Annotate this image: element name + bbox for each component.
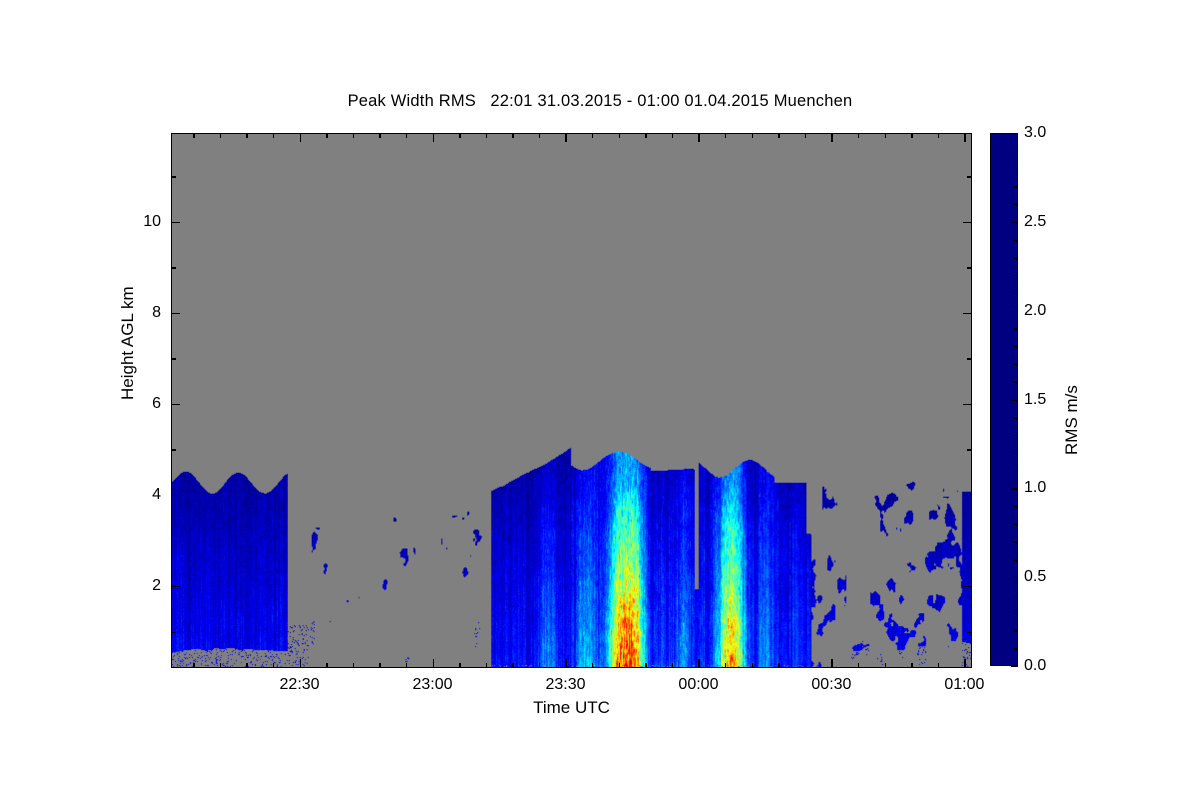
x-minor-tick-top <box>672 133 673 138</box>
x-minor-tick-top <box>938 133 939 138</box>
x-minor-tick-top <box>778 133 779 138</box>
x-minor-tick-top <box>752 133 753 138</box>
y-major-tick-right <box>963 495 972 496</box>
x-minor-tick <box>486 663 487 668</box>
colorbar-minor-tick <box>1014 364 1018 365</box>
figure-canvas: Peak Width RMS 22:01 31.03.2015 - 01:00 … <box>0 0 1200 800</box>
y-major-tick-right <box>963 586 972 587</box>
y-tick-label: 10 <box>121 213 161 231</box>
y-major-tick <box>171 586 180 587</box>
colorbar-title: RMS m/s <box>1062 385 1082 455</box>
x-major-tick-top <box>698 133 699 142</box>
x-tick-label: 23:00 <box>412 676 452 694</box>
colorbar-minor-tick <box>1014 257 1018 258</box>
colorbar-minor-tick <box>1014 204 1018 205</box>
x-major-tick-top <box>565 133 566 142</box>
x-tick-label: 01:00 <box>944 676 984 694</box>
x-minor-tick-top <box>911 133 912 138</box>
colorbar-minor-tick <box>1014 595 1018 596</box>
x-minor-tick <box>645 663 646 668</box>
colorbar-major-tick <box>1011 577 1018 578</box>
x-minor-tick <box>911 663 912 668</box>
y-major-tick-right <box>963 313 972 314</box>
x-minor-tick <box>512 663 513 668</box>
y-major-tick <box>171 313 180 314</box>
x-minor-tick <box>858 663 859 668</box>
x-minor-tick <box>805 663 806 668</box>
x-minor-tick-top <box>539 133 540 138</box>
y-tick-label: 4 <box>121 486 161 504</box>
colorbar-minor-tick <box>1014 293 1018 294</box>
colorbar-minor-tick <box>1014 648 1018 649</box>
x-minor-tick <box>246 663 247 668</box>
y-minor-tick <box>171 632 176 633</box>
colorbar-minor-tick <box>1014 524 1018 525</box>
colorbar-tick-label: 3.0 <box>1024 124 1046 142</box>
x-minor-tick <box>619 663 620 668</box>
x-major-tick-top <box>300 133 301 142</box>
colorbar-tick-label: 0.5 <box>1024 568 1046 586</box>
colorbar-minor-tick <box>1014 169 1018 170</box>
x-minor-tick-top <box>592 133 593 138</box>
x-minor-tick-top <box>486 133 487 138</box>
x-minor-tick <box>778 663 779 668</box>
colorbar-major-tick <box>1011 133 1018 134</box>
x-minor-tick-top <box>885 133 886 138</box>
x-minor-tick-top <box>858 133 859 138</box>
x-minor-tick <box>379 663 380 668</box>
y-minor-tick <box>171 267 176 268</box>
x-minor-tick-top <box>353 133 354 138</box>
y-minor-tick-right <box>967 541 972 542</box>
x-minor-tick <box>273 663 274 668</box>
x-minor-tick <box>459 663 460 668</box>
y-major-tick-right <box>963 404 972 405</box>
x-minor-tick <box>406 663 407 668</box>
y-minor-tick-right <box>967 358 972 359</box>
x-minor-tick-top <box>273 133 274 138</box>
x-minor-tick-top <box>805 133 806 138</box>
colorbar-minor-tick <box>1014 240 1018 241</box>
x-axis-title: Time UTC <box>171 698 972 718</box>
x-minor-tick-top <box>406 133 407 138</box>
colorbar-minor-tick <box>1014 471 1018 472</box>
colorbar-minor-tick <box>1014 346 1018 347</box>
x-major-tick <box>565 659 566 668</box>
colorbar-tick-label: 2.0 <box>1024 302 1046 320</box>
x-minor-tick <box>353 663 354 668</box>
x-major-tick <box>831 659 832 668</box>
x-minor-tick-top <box>379 133 380 138</box>
y-minor-tick-right <box>967 632 972 633</box>
colorbar-minor-tick <box>1014 453 1018 454</box>
y-major-tick-right <box>963 222 972 223</box>
x-major-tick <box>698 659 699 668</box>
colorbar-tick-label: 0.0 <box>1024 657 1046 675</box>
colorbar-minor-tick <box>1014 435 1018 436</box>
colorbar-minor-tick <box>1014 559 1018 560</box>
x-minor-tick-top <box>220 133 221 138</box>
x-minor-tick <box>752 663 753 668</box>
x-minor-tick <box>326 663 327 668</box>
x-major-tick <box>433 659 434 668</box>
y-axis-title: Height AGL km <box>118 286 138 400</box>
colorbar-major-tick <box>1011 488 1018 489</box>
x-minor-tick <box>193 663 194 668</box>
colorbar-tick-label: 1.5 <box>1024 391 1046 409</box>
x-minor-tick <box>220 663 221 668</box>
x-major-tick <box>300 659 301 668</box>
x-minor-tick <box>725 663 726 668</box>
x-major-tick <box>964 659 965 668</box>
x-tick-label: 23:30 <box>545 676 585 694</box>
heatmap-plot-area[interactable] <box>171 133 972 668</box>
colorbar-major-tick <box>1011 666 1018 667</box>
y-major-tick <box>171 495 180 496</box>
x-minor-tick-top <box>193 133 194 138</box>
colorbar-tick-label: 1.0 <box>1024 479 1046 497</box>
colorbar-minor-tick <box>1014 506 1018 507</box>
x-tick-label: 00:00 <box>678 676 718 694</box>
y-minor-tick-right <box>967 176 972 177</box>
x-minor-tick-top <box>512 133 513 138</box>
colorbar-major-tick <box>1011 222 1018 223</box>
colorbar-tick-label: 2.5 <box>1024 213 1046 231</box>
x-minor-tick-top <box>326 133 327 138</box>
x-minor-tick <box>539 663 540 668</box>
y-minor-tick <box>171 541 176 542</box>
colorbar-minor-tick <box>1014 382 1018 383</box>
x-minor-tick <box>592 663 593 668</box>
x-major-tick-top <box>831 133 832 142</box>
y-major-tick <box>171 222 180 223</box>
colorbar-minor-tick <box>1014 151 1018 152</box>
x-minor-tick-top <box>725 133 726 138</box>
y-minor-tick <box>171 449 176 450</box>
x-minor-tick <box>672 663 673 668</box>
y-minor-tick-right <box>967 267 972 268</box>
x-minor-tick-top <box>246 133 247 138</box>
colorbar-minor-tick <box>1014 630 1018 631</box>
y-minor-tick-right <box>967 449 972 450</box>
y-major-tick <box>171 404 180 405</box>
x-minor-tick <box>938 663 939 668</box>
page-title: Peak Width RMS 22:01 31.03.2015 - 01:00 … <box>0 92 1200 111</box>
y-minor-tick <box>171 176 176 177</box>
colorbar-minor-tick <box>1014 542 1018 543</box>
colorbar-minor-tick <box>1014 328 1018 329</box>
x-major-tick-top <box>964 133 965 142</box>
colorbar-major-tick <box>1011 400 1018 401</box>
colorbar-minor-tick <box>1014 275 1018 276</box>
x-minor-tick-top <box>459 133 460 138</box>
x-minor-tick-top <box>645 133 646 138</box>
heatmap-image <box>172 134 971 667</box>
colorbar-minor-tick <box>1014 417 1018 418</box>
x-tick-label: 22:30 <box>280 676 320 694</box>
x-major-tick-top <box>433 133 434 142</box>
colorbar-major-tick <box>1011 311 1018 312</box>
x-tick-label: 00:30 <box>811 676 851 694</box>
x-minor-tick <box>885 663 886 668</box>
x-minor-tick-top <box>619 133 620 138</box>
y-minor-tick <box>171 358 176 359</box>
y-tick-label: 2 <box>121 577 161 595</box>
colorbar-minor-tick <box>1014 186 1018 187</box>
colorbar-minor-tick <box>1014 613 1018 614</box>
